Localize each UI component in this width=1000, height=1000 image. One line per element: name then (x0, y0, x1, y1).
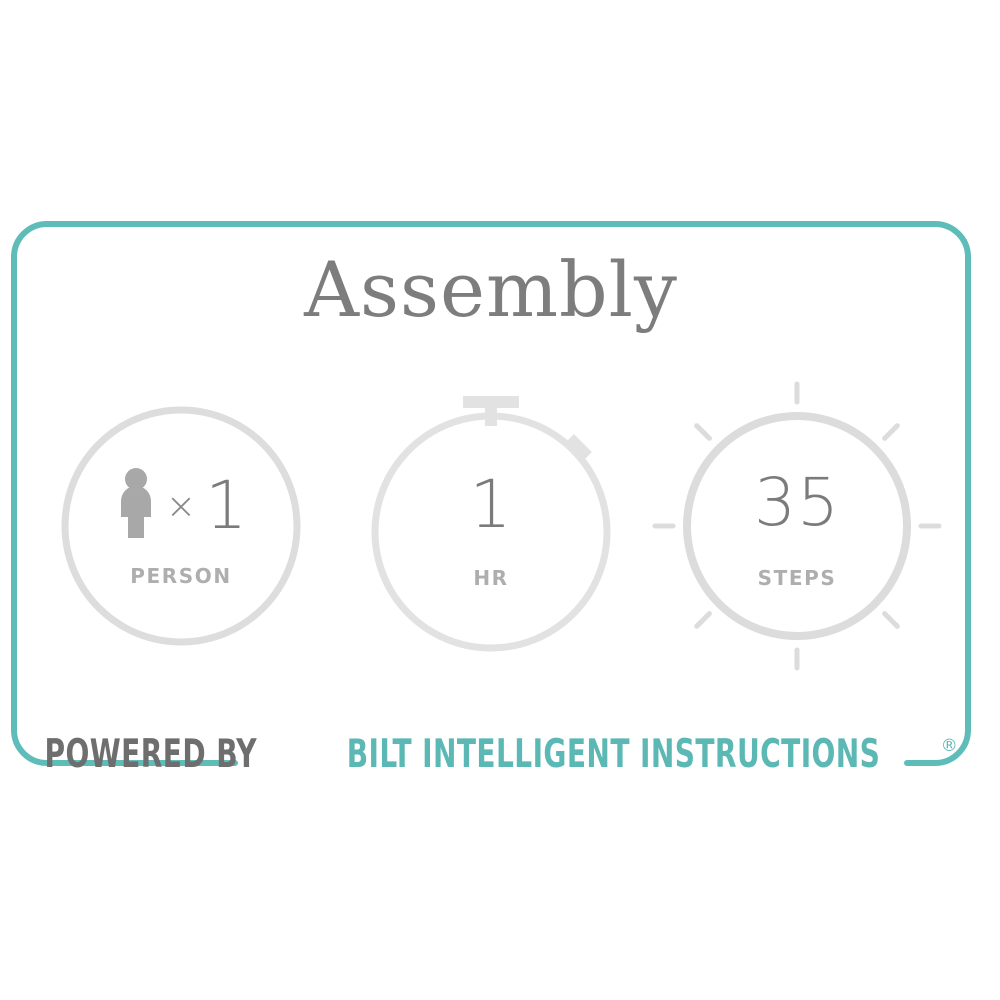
person-label-wrap: PERSON (55, 564, 307, 588)
assembly-info-card: Assembly × 1 PERSON (7, 221, 975, 766)
person-icon-row: × 1 (55, 468, 307, 540)
time-label: HR (473, 566, 508, 590)
page-canvas: Assembly × 1 PERSON (0, 0, 1000, 1000)
brand-label: BILT INTELLIGENT INSTRUCTIONS (346, 735, 880, 774)
page-title: Assembly (7, 252, 975, 328)
steps-value: 35 (754, 464, 840, 541)
stat-steps: 35 STEPS (671, 394, 923, 684)
footer-branding: POWERED BYBILT INTELLIGENT INSTRUCTIONS® (7, 735, 975, 774)
registered-trademark-mark: ® (941, 738, 958, 755)
powered-by-label: POWERED BY (45, 735, 257, 774)
multiplier-symbol: × (166, 489, 196, 525)
time-value: 1 (470, 466, 513, 543)
person-icon (115, 468, 157, 540)
steps-label-wrap: STEPS (671, 566, 923, 590)
person-count-value: 1 (205, 473, 247, 539)
time-label-wrap: HR (365, 566, 617, 590)
steps-label: STEPS (758, 566, 837, 590)
stat-person: × 1 PERSON (55, 394, 307, 684)
person-label: PERSON (130, 564, 231, 588)
time-value-wrap: 1 (365, 472, 617, 538)
stat-time: 1 HR (365, 394, 617, 684)
stats-row: × 1 PERSON (7, 394, 975, 694)
steps-value-wrap: 35 (671, 470, 923, 536)
